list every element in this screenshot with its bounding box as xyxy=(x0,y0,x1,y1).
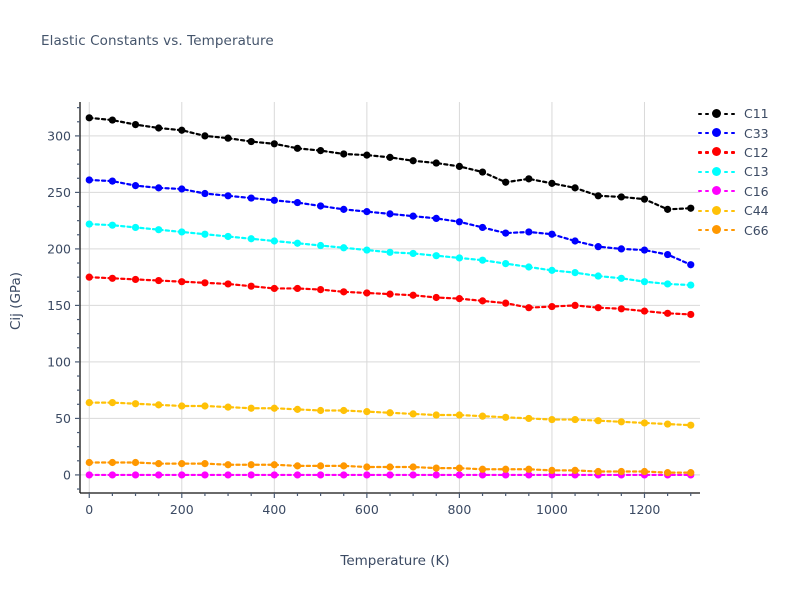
data-point-C11 xyxy=(687,205,694,212)
data-point-C13 xyxy=(410,250,417,257)
data-point-C11 xyxy=(479,168,486,175)
data-point-C11 xyxy=(86,114,93,121)
x-tick-label: 200 xyxy=(170,502,194,517)
data-point-C16 xyxy=(433,471,440,478)
data-point-C13 xyxy=(271,237,278,244)
data-point-C12 xyxy=(571,302,578,309)
data-point-C13 xyxy=(525,263,532,270)
data-point-C66 xyxy=(525,466,532,473)
data-point-C44 xyxy=(456,411,463,418)
data-point-C11 xyxy=(386,154,393,161)
data-point-C11 xyxy=(178,127,185,134)
data-point-C33 xyxy=(248,194,255,201)
data-point-C66 xyxy=(456,465,463,472)
data-point-C13 xyxy=(456,254,463,261)
data-point-C11 xyxy=(132,121,139,128)
data-point-C16 xyxy=(224,471,231,478)
data-point-C33 xyxy=(571,237,578,244)
y-tick-label: 0 xyxy=(63,467,71,482)
data-point-C33 xyxy=(317,202,324,209)
data-point-C16 xyxy=(132,471,139,478)
data-point-C66 xyxy=(201,460,208,467)
legend-swatch-C66 xyxy=(697,223,737,237)
data-point-C13 xyxy=(571,269,578,276)
data-point-C11 xyxy=(155,124,162,131)
data-point-C12 xyxy=(386,291,393,298)
data-point-C44 xyxy=(363,408,370,415)
data-point-C16 xyxy=(386,471,393,478)
data-point-C13 xyxy=(687,281,694,288)
data-point-C33 xyxy=(479,224,486,231)
data-point-C13 xyxy=(479,257,486,264)
legend-item-C12[interactable]: C12 xyxy=(697,143,797,162)
data-point-C33 xyxy=(201,190,208,197)
data-point-C11 xyxy=(271,140,278,147)
data-point-C44 xyxy=(317,407,324,414)
data-point-C44 xyxy=(109,399,116,406)
data-point-C33 xyxy=(132,182,139,189)
data-point-C12 xyxy=(525,304,532,311)
data-point-C12 xyxy=(271,285,278,292)
data-point-C11 xyxy=(548,180,555,187)
data-point-C66 xyxy=(178,460,185,467)
data-point-C13 xyxy=(340,244,347,251)
data-point-C12 xyxy=(340,288,347,295)
data-point-C13 xyxy=(155,226,162,233)
data-point-C16 xyxy=(456,471,463,478)
data-point-C66 xyxy=(248,461,255,468)
data-point-C44 xyxy=(386,409,393,416)
legend-item-C33[interactable]: C33 xyxy=(697,123,797,142)
chart-title: Elastic Constants vs. Temperature xyxy=(41,33,274,49)
x-tick-label: 0 xyxy=(85,502,93,517)
x-axis-label: Temperature (K) xyxy=(0,553,790,569)
data-point-C11 xyxy=(641,196,648,203)
data-point-C13 xyxy=(618,275,625,282)
data-point-C13 xyxy=(664,280,671,287)
data-point-C44 xyxy=(641,419,648,426)
data-point-C13 xyxy=(178,228,185,235)
data-point-C33 xyxy=(641,246,648,253)
y-tick-label: 150 xyxy=(47,298,71,313)
data-point-C66 xyxy=(340,462,347,469)
data-point-C44 xyxy=(595,417,602,424)
data-point-C66 xyxy=(271,461,278,468)
x-tick-label: 1000 xyxy=(536,502,568,517)
data-point-C66 xyxy=(410,463,417,470)
data-point-C11 xyxy=(340,150,347,157)
legend-item-C16[interactable]: C16 xyxy=(697,182,797,201)
data-point-C33 xyxy=(224,192,231,199)
data-point-C44 xyxy=(201,402,208,409)
data-point-C44 xyxy=(618,418,625,425)
data-point-C16 xyxy=(201,471,208,478)
legend-label-C16: C16 xyxy=(737,184,769,199)
data-point-C44 xyxy=(687,422,694,429)
data-point-C33 xyxy=(363,208,370,215)
data-point-C12 xyxy=(155,277,162,284)
legend-swatch-C33 xyxy=(697,126,737,140)
data-point-C12 xyxy=(410,292,417,299)
data-point-C66 xyxy=(224,461,231,468)
data-point-C12 xyxy=(248,283,255,290)
data-point-C66 xyxy=(618,468,625,475)
data-point-C13 xyxy=(201,231,208,238)
data-point-C13 xyxy=(595,272,602,279)
data-point-C16 xyxy=(294,471,301,478)
data-point-C66 xyxy=(155,460,162,467)
series-C13 xyxy=(86,220,695,288)
data-point-C12 xyxy=(618,305,625,312)
data-point-C11 xyxy=(618,193,625,200)
data-point-C16 xyxy=(86,471,93,478)
x-tick-label: 800 xyxy=(447,502,471,517)
data-point-C13 xyxy=(317,242,324,249)
legend-item-C44[interactable]: C44 xyxy=(697,201,797,220)
data-point-C12 xyxy=(132,276,139,283)
data-point-C66 xyxy=(548,467,555,474)
data-point-C44 xyxy=(664,420,671,427)
data-point-C13 xyxy=(248,235,255,242)
series-C12 xyxy=(86,274,695,318)
x-tick-label: 1200 xyxy=(629,502,661,517)
data-point-C12 xyxy=(502,300,509,307)
data-point-C16 xyxy=(410,471,417,478)
data-point-C33 xyxy=(86,176,93,183)
data-point-C11 xyxy=(456,163,463,170)
data-point-C44 xyxy=(178,402,185,409)
data-point-C16 xyxy=(248,471,255,478)
data-point-C12 xyxy=(363,289,370,296)
data-point-C66 xyxy=(132,459,139,466)
data-point-C66 xyxy=(109,459,116,466)
data-point-C66 xyxy=(595,468,602,475)
data-point-C13 xyxy=(641,278,648,285)
data-point-C12 xyxy=(109,275,116,282)
data-point-C33 xyxy=(456,218,463,225)
legend-swatch-C13 xyxy=(697,165,737,179)
data-point-C44 xyxy=(548,416,555,423)
data-point-C66 xyxy=(502,466,509,473)
data-point-C16 xyxy=(317,471,324,478)
data-point-C16 xyxy=(340,471,347,478)
data-point-C33 xyxy=(386,210,393,217)
data-point-C33 xyxy=(155,184,162,191)
data-point-C12 xyxy=(595,304,602,311)
data-point-C11 xyxy=(433,159,440,166)
data-point-C12 xyxy=(548,303,555,310)
data-point-C33 xyxy=(687,261,694,268)
y-tick-label: 50 xyxy=(55,411,71,426)
data-point-C11 xyxy=(201,132,208,139)
data-point-C12 xyxy=(456,295,463,302)
data-point-C33 xyxy=(271,197,278,204)
data-point-C13 xyxy=(548,267,555,274)
data-point-C66 xyxy=(317,462,324,469)
data-point-C11 xyxy=(224,135,231,142)
data-point-C44 xyxy=(248,405,255,412)
data-point-C44 xyxy=(132,400,139,407)
data-point-C44 xyxy=(571,416,578,423)
data-point-C33 xyxy=(294,199,301,206)
data-point-C13 xyxy=(86,220,93,227)
data-point-C66 xyxy=(433,465,440,472)
legend-item-C11[interactable]: C11 xyxy=(697,104,797,123)
data-point-C13 xyxy=(386,249,393,256)
data-point-C12 xyxy=(224,280,231,287)
data-point-C33 xyxy=(548,231,555,238)
legend-label-C33: C33 xyxy=(737,126,769,141)
data-point-C33 xyxy=(433,215,440,222)
data-point-C11 xyxy=(363,152,370,159)
data-point-C13 xyxy=(109,222,116,229)
data-point-C16 xyxy=(178,471,185,478)
data-point-C33 xyxy=(525,228,532,235)
data-point-C13 xyxy=(363,246,370,253)
data-point-C11 xyxy=(502,179,509,186)
data-point-C33 xyxy=(178,185,185,192)
legend-label-C13: C13 xyxy=(737,164,769,179)
data-point-C44 xyxy=(502,414,509,421)
data-point-C66 xyxy=(641,468,648,475)
legend-label-C11: C11 xyxy=(737,106,769,121)
data-point-C12 xyxy=(294,285,301,292)
data-point-C66 xyxy=(386,463,393,470)
y-tick-label: 100 xyxy=(47,354,71,369)
legend-label-C66: C66 xyxy=(737,223,769,238)
data-point-C33 xyxy=(340,206,347,213)
figure-canvas: Elastic Constants vs. Temperature 050100… xyxy=(0,0,800,600)
legend-item-C66[interactable]: C66 xyxy=(697,220,797,239)
data-point-C33 xyxy=(595,243,602,250)
data-point-C44 xyxy=(410,410,417,417)
legend-label-C44: C44 xyxy=(737,203,769,218)
data-point-C11 xyxy=(317,147,324,154)
data-point-C33 xyxy=(618,245,625,252)
data-point-C66 xyxy=(687,469,694,476)
data-point-C66 xyxy=(86,459,93,466)
data-point-C13 xyxy=(433,252,440,259)
data-point-C12 xyxy=(641,307,648,314)
data-point-C66 xyxy=(363,463,370,470)
data-point-C11 xyxy=(109,116,116,123)
data-point-C11 xyxy=(664,206,671,213)
series-C44 xyxy=(86,399,695,429)
data-point-C44 xyxy=(479,413,486,420)
data-point-C12 xyxy=(178,278,185,285)
data-point-C33 xyxy=(410,213,417,220)
data-point-C11 xyxy=(410,157,417,164)
legend-swatch-C11 xyxy=(697,107,737,121)
y-tick-label: 250 xyxy=(47,185,71,200)
data-point-C12 xyxy=(664,310,671,317)
legend-label-C12: C12 xyxy=(737,145,769,160)
data-point-C11 xyxy=(248,138,255,145)
data-point-C13 xyxy=(132,224,139,231)
legend-swatch-C16 xyxy=(697,184,737,198)
legend-swatch-C12 xyxy=(697,145,737,159)
data-point-C66 xyxy=(479,466,486,473)
data-point-C12 xyxy=(479,297,486,304)
legend-swatch-C44 xyxy=(697,204,737,218)
data-point-C16 xyxy=(271,471,278,478)
data-point-C66 xyxy=(571,467,578,474)
data-point-C12 xyxy=(433,294,440,301)
data-point-C16 xyxy=(155,471,162,478)
y-tick-label: 200 xyxy=(47,241,71,256)
data-point-C12 xyxy=(201,279,208,286)
data-point-C44 xyxy=(294,406,301,413)
data-point-C12 xyxy=(687,311,694,318)
x-tick-label: 600 xyxy=(355,502,379,517)
data-point-C33 xyxy=(109,178,116,185)
data-point-C44 xyxy=(86,399,93,406)
data-point-C16 xyxy=(363,471,370,478)
data-point-C13 xyxy=(502,260,509,267)
data-point-C13 xyxy=(294,240,301,247)
data-point-C44 xyxy=(525,415,532,422)
data-point-C66 xyxy=(664,469,671,476)
data-point-C44 xyxy=(340,407,347,414)
plot-area: 050100150200250300020040060080010001200 xyxy=(0,0,800,600)
data-point-C33 xyxy=(664,251,671,258)
x-tick-label: 400 xyxy=(262,502,286,517)
data-point-C11 xyxy=(571,184,578,191)
data-point-C13 xyxy=(224,233,231,240)
data-point-C11 xyxy=(294,145,301,152)
data-point-C44 xyxy=(433,411,440,418)
data-point-C12 xyxy=(317,286,324,293)
data-point-C11 xyxy=(595,192,602,199)
data-point-C33 xyxy=(502,229,509,236)
data-point-C16 xyxy=(109,471,116,478)
y-axis-label: Cij (GPa) xyxy=(8,241,24,361)
data-point-C66 xyxy=(294,462,301,469)
data-point-C44 xyxy=(271,405,278,412)
data-point-C44 xyxy=(224,404,231,411)
data-point-C12 xyxy=(86,274,93,281)
series-C11 xyxy=(86,114,695,213)
data-point-C44 xyxy=(155,401,162,408)
y-tick-label: 300 xyxy=(47,128,71,143)
data-point-C11 xyxy=(525,175,532,182)
chart-legend: C11C33C12C13C16C44C66 xyxy=(697,104,797,240)
legend-item-C13[interactable]: C13 xyxy=(697,162,797,181)
